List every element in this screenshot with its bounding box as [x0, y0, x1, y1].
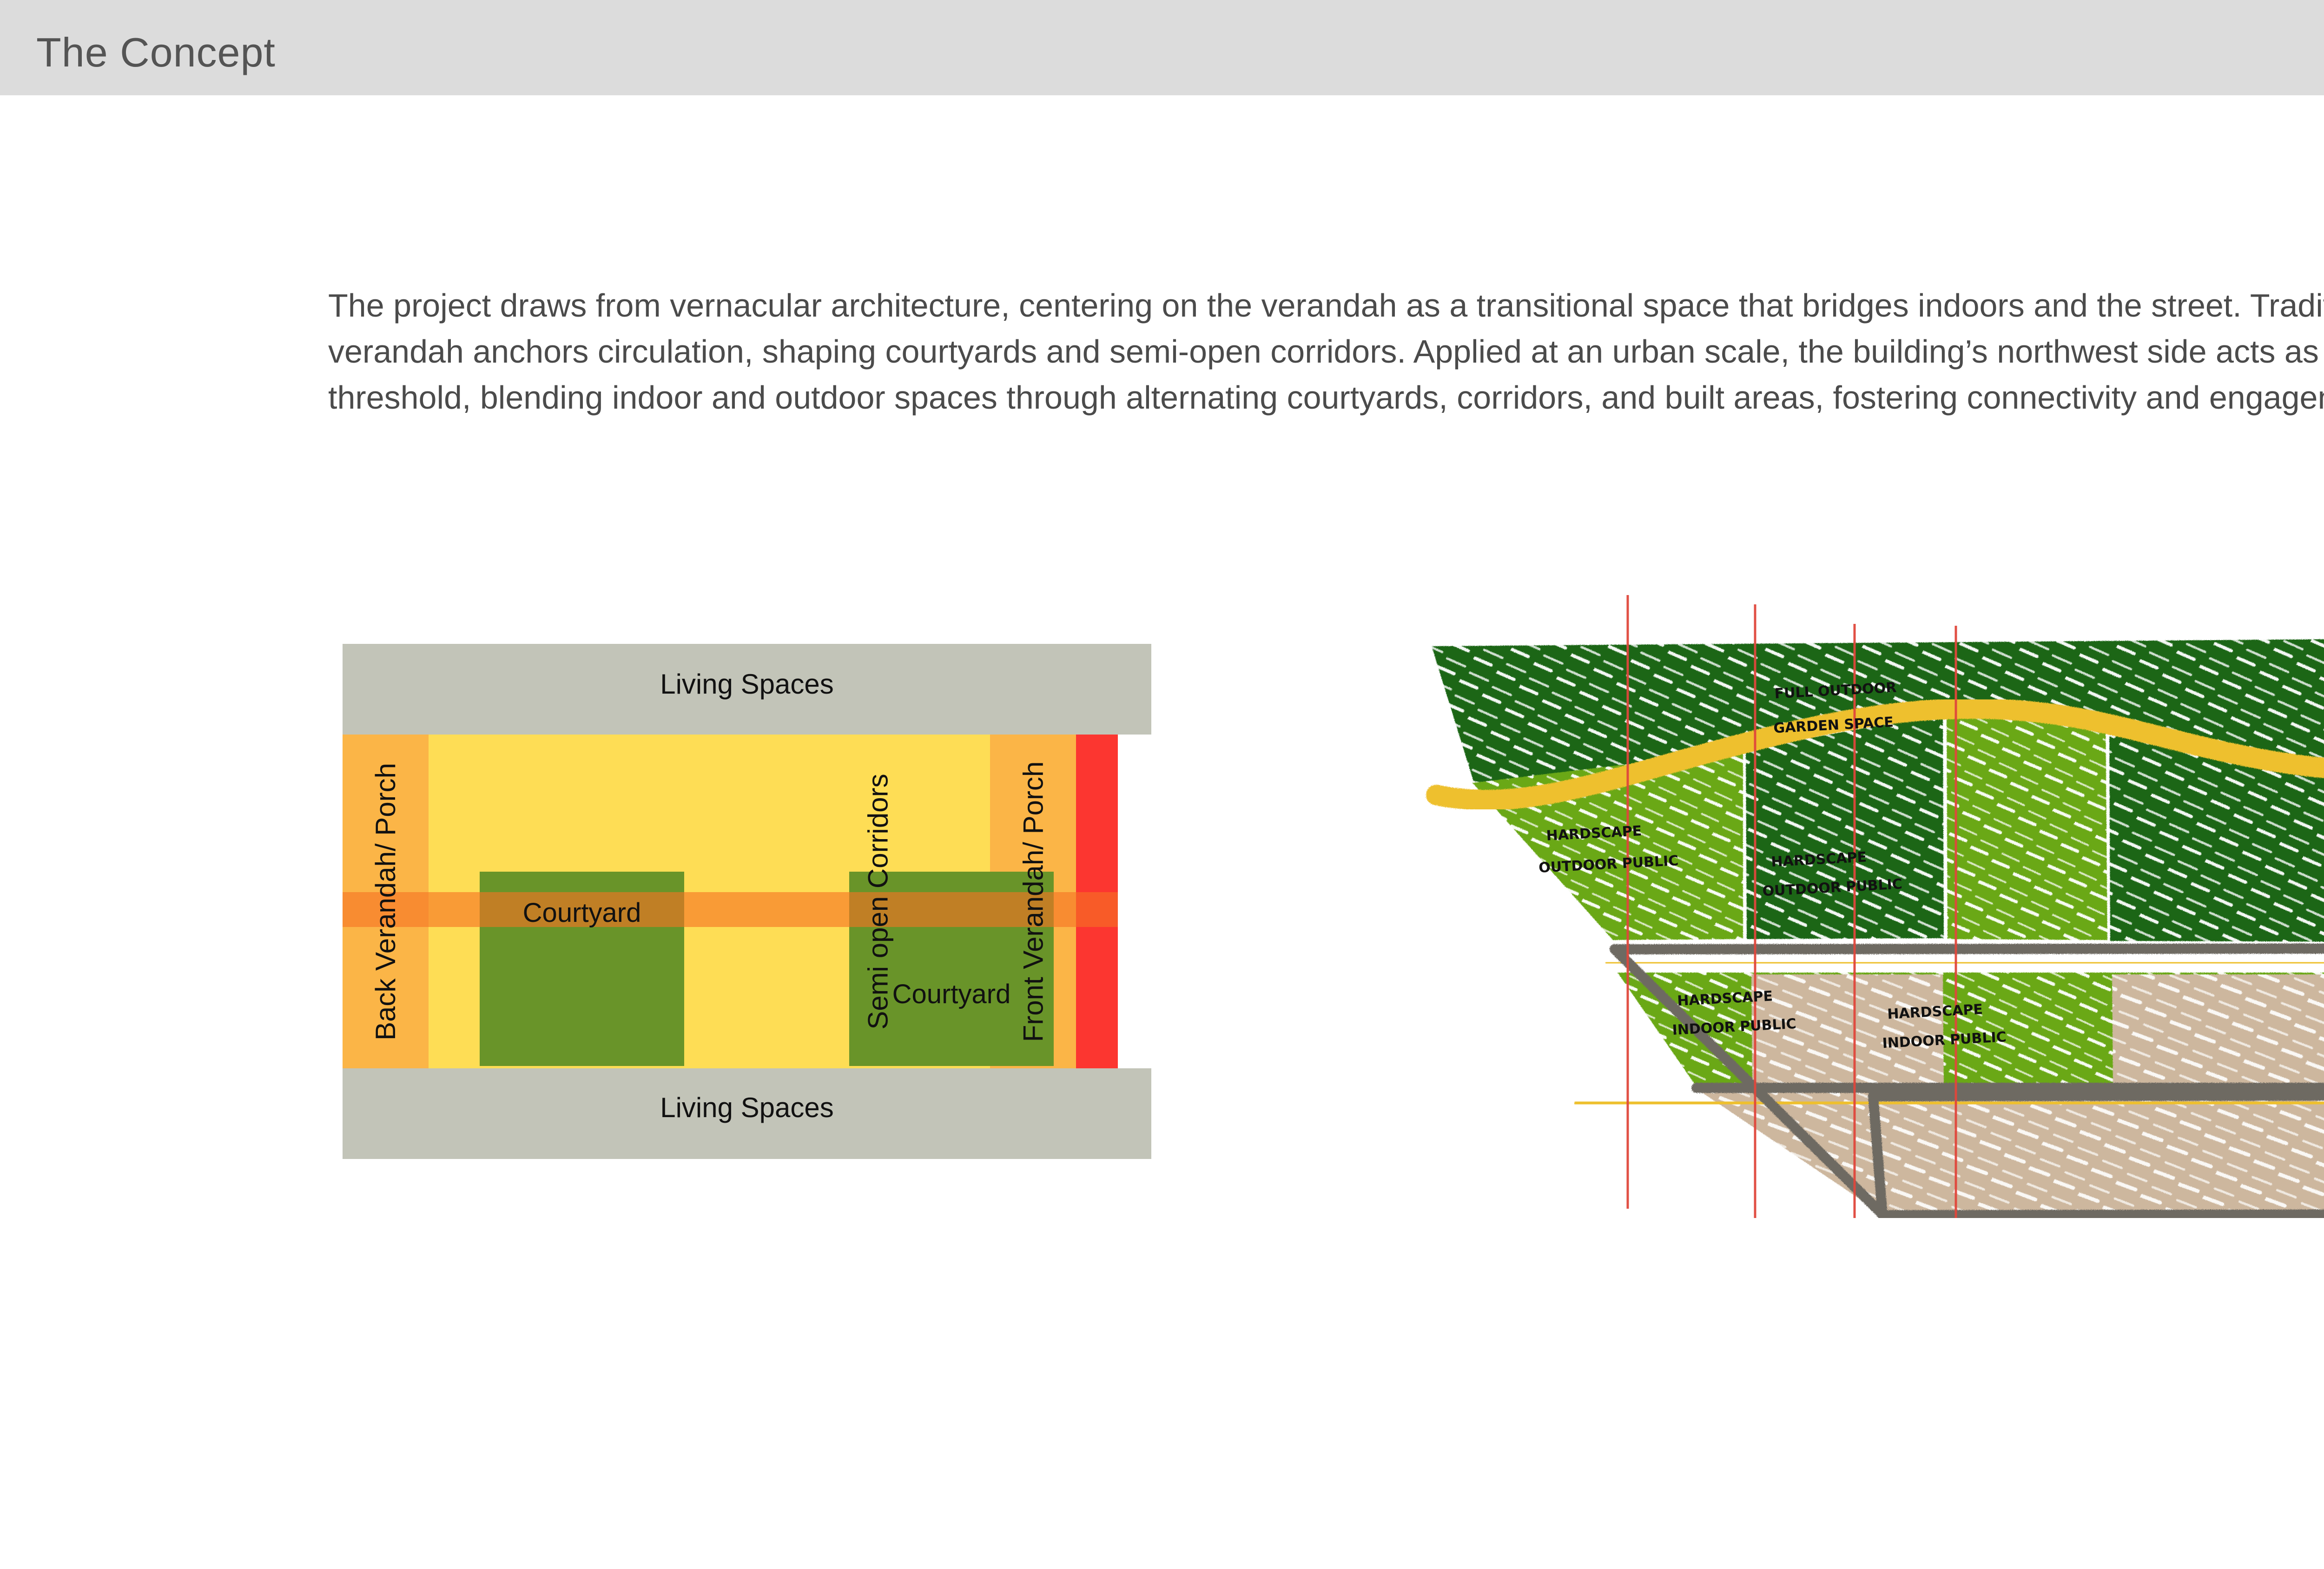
semi-open-corridors-label: Semi open Corridors — [835, 735, 921, 1068]
living-spaces-label-top: Living Spaces — [343, 668, 1151, 700]
indoor-block-upper-right — [2112, 974, 2324, 1086]
concept-paragraph: The project draws from vernacular archit… — [328, 283, 2324, 421]
back-verandah-label: Back Verandah/ Porch — [343, 735, 429, 1068]
page-title: The Concept — [36, 29, 276, 76]
hardscape-outdoor-centre — [1947, 713, 2107, 940]
front-verandah-label: Front Verandah/ Porch — [990, 735, 1076, 1068]
site-strategy-sketch: FULL OUTDOOR GARDEN SPACE HARDSCAPE OUTD… — [1418, 595, 2324, 1218]
courtyard-plan-diagram: Living Spaces Living Spaces Courtyard Co… — [343, 644, 1151, 1159]
living-spaces-label-bottom: Living Spaces — [343, 1092, 1151, 1124]
circulation-path-mid — [1615, 962, 2324, 963]
header-bar — [0, 0, 2324, 95]
circulation-path-lower — [1583, 1102, 2324, 1104]
courtyard-left-label: Courtyard — [480, 897, 684, 928]
garden-block-inset-left — [1746, 714, 1944, 939]
